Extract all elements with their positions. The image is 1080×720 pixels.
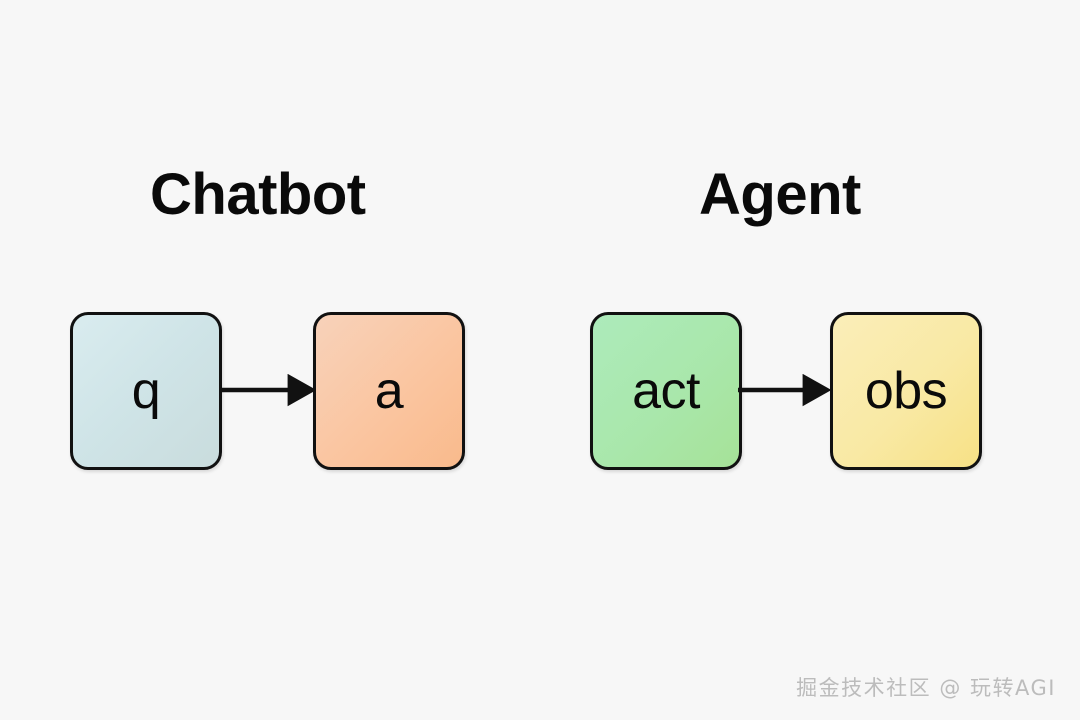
diagram-canvas: Chatbot Agent q a act obs 掘金技术社区 @ 玩转AGI (0, 0, 1080, 720)
node-label-obs: obs (865, 365, 947, 417)
node-label-act: act (632, 365, 700, 417)
arrow-act-to-obs (738, 370, 833, 410)
node-box-a: a (313, 312, 465, 470)
arrow-q-to-a (220, 370, 315, 410)
watermark-text: 掘金技术社区 @ 玩转AGI (796, 672, 1056, 702)
node-box-act: act (590, 312, 742, 470)
section-title-agent: Agent (699, 166, 861, 224)
section-title-chatbot: Chatbot (150, 166, 366, 224)
node-label-q: q (132, 365, 160, 417)
node-box-q: q (70, 312, 222, 470)
node-label-a: a (375, 365, 403, 417)
node-box-obs: obs (830, 312, 982, 470)
